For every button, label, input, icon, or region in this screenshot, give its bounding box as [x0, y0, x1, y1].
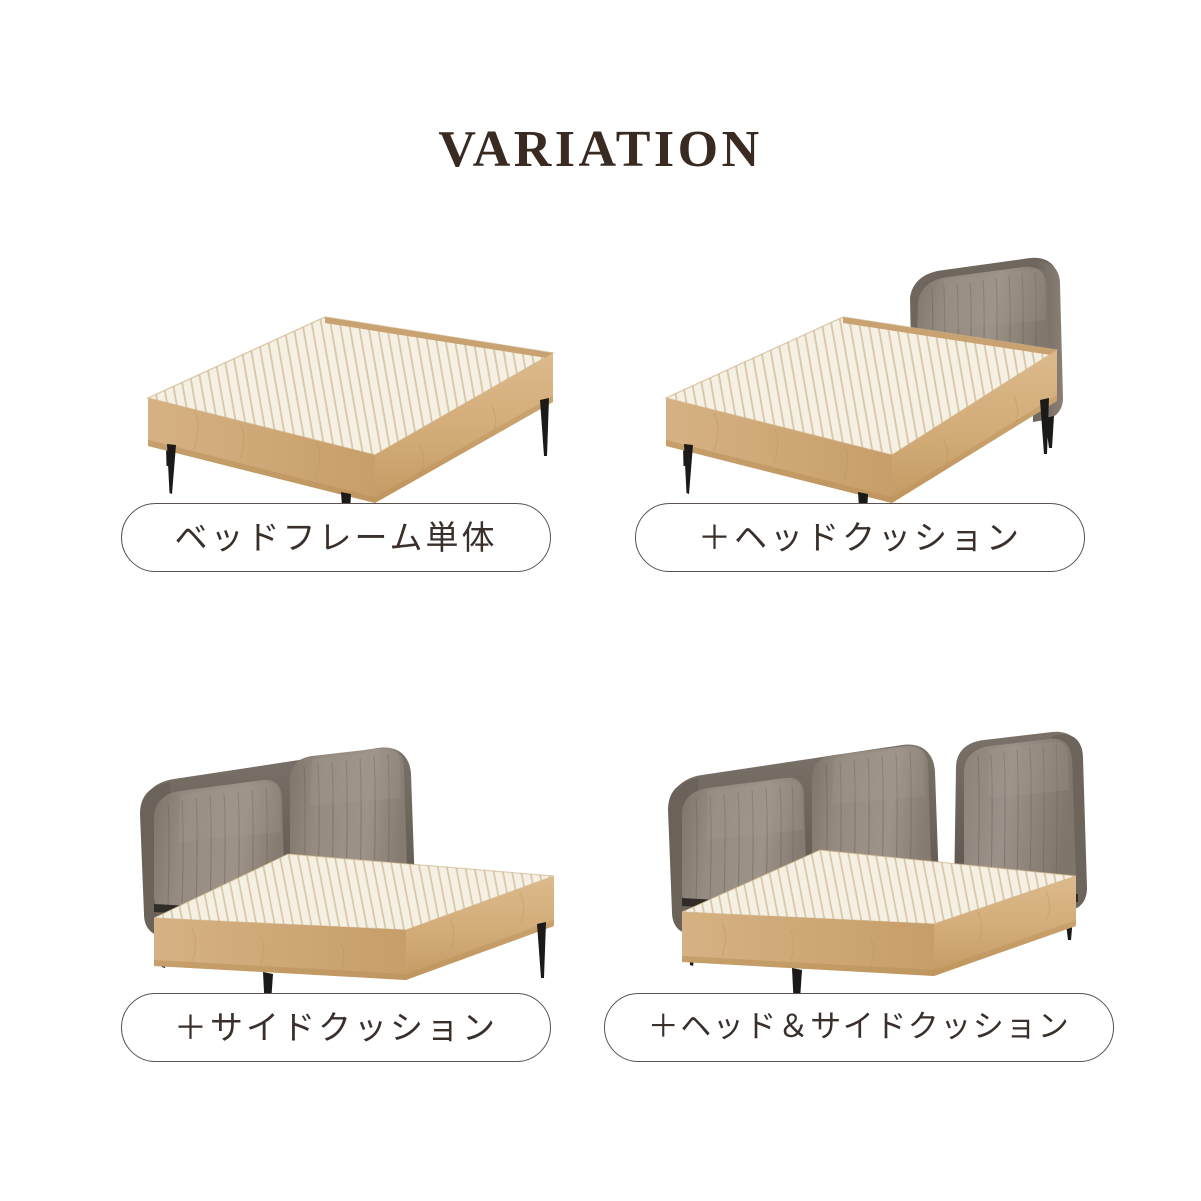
variation-card-frame-only[interactable]: ベッドフレーム単体 [80, 200, 600, 600]
variation-label-text: ＋ヘッドクッション [698, 521, 1022, 554]
variation-label-pill-head-cushion[interactable]: ＋ヘッドクッション [635, 503, 1085, 572]
variation-card-head-and-side-cushion[interactable]: ＋ヘッド＆サイドクッション [604, 690, 1124, 1090]
bed-leg-front-left [684, 444, 693, 494]
variation-page: VARIATION [0, 0, 1201, 1201]
variation-card-head-cushion[interactable]: ＋ヘッドクッション [604, 200, 1124, 600]
variation-label-text: ＋ヘッド＆サイドクッション [648, 1012, 1071, 1043]
bed-leg-far-right [1040, 398, 1049, 454]
bed-leg-far-right [537, 922, 546, 978]
variation-label-pill-frame-only[interactable]: ベッドフレーム単体 [121, 503, 551, 572]
variation-card-side-cushion[interactable]: ＋サイドクッション [80, 690, 600, 1090]
variation-label-pill-head-and-side-cushion[interactable]: ＋ヘッド＆サイドクッション [604, 993, 1114, 1062]
variation-label-text: ベッドフレーム単体 [174, 521, 497, 554]
bed-leg-front-left [167, 444, 176, 494]
bed-leg-far-right [540, 398, 549, 456]
page-title: VARIATION [0, 124, 1201, 176]
variation-label-text: ＋サイドクッション [174, 1011, 498, 1044]
variation-label-pill-side-cushion[interactable]: ＋サイドクッション [121, 993, 551, 1062]
